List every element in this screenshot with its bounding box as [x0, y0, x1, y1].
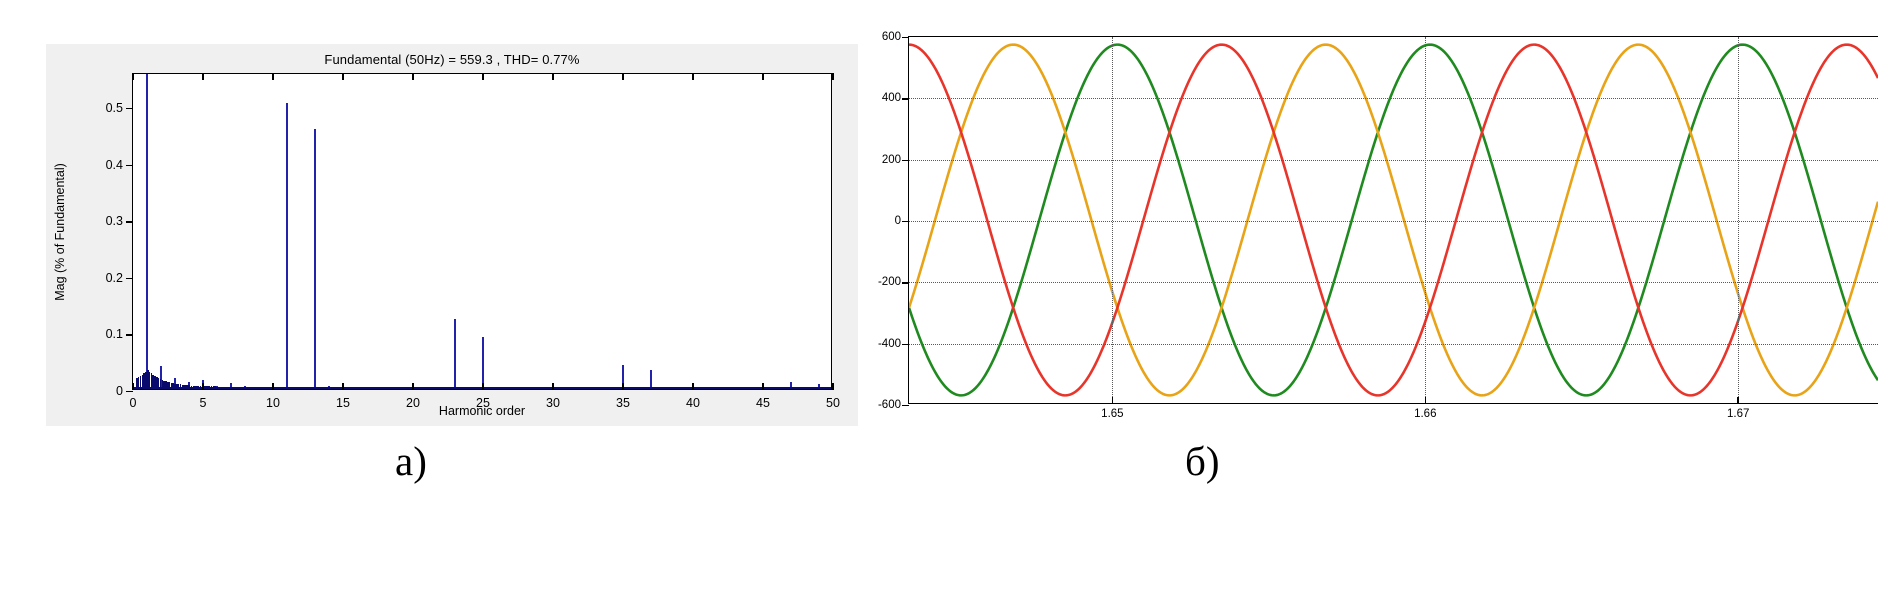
waveform-y-tick: [902, 405, 909, 406]
fft-y-tick-label: 0.2: [106, 271, 123, 285]
fft-x-tick-top: [762, 73, 763, 80]
fft-x-tick: [552, 383, 553, 390]
fft-y-axis-label: Mag (% of Fundamental): [53, 163, 67, 301]
waveform-plot-inner: [909, 37, 1878, 403]
fft-y-tick: [126, 221, 133, 222]
fft-y-tick: [126, 108, 133, 109]
waveform-x-tick: [1112, 397, 1113, 404]
waveform-y-gridline: [909, 98, 1878, 99]
fft-x-tick-top: [342, 73, 343, 80]
fft-y-tick: [126, 278, 133, 279]
fft-title: Fundamental (50Hz) = 559.3 , THD= 0.77%: [46, 52, 858, 67]
fft-y-tick-label: 0: [116, 384, 123, 398]
waveform-y-gridline: [909, 344, 1878, 345]
fft-x-tick: [202, 383, 203, 390]
waveform-y-tick: [902, 98, 909, 99]
fft-x-tick: [482, 383, 483, 390]
waveform-y-tick: [902, 344, 909, 345]
waveform-x-tick-label: 1.65: [1101, 408, 1123, 420]
waveform-x-gridline: [1738, 37, 1739, 403]
fft-x-tick: [272, 383, 273, 390]
waveform-x-tick-label: 1.67: [1727, 408, 1749, 420]
spectrum-noise: [256, 387, 258, 389]
fft-x-tick-top: [692, 73, 693, 80]
fft-x-tick: [132, 383, 133, 390]
waveform-window: -600-400-20002004006001.651.661.67: [858, 18, 1888, 426]
caption-a: а): [395, 437, 427, 485]
fft-y-tick: [126, 165, 133, 166]
waveform-x-tick: [1737, 397, 1738, 404]
waveform-y-tick-label: 0: [895, 215, 901, 227]
fft-y-tick-label: 0.1: [106, 327, 123, 341]
fft-x-tick: [762, 383, 763, 390]
fft-x-tick-top: [272, 73, 273, 80]
fft-x-tick-top: [202, 73, 203, 80]
fft-plot-area: 0.10.20.30.40.5005101520253035404550: [132, 73, 832, 390]
fft-plot-inner: [133, 74, 831, 389]
harmonic-spike: [454, 319, 456, 389]
waveform-y-tick-label: 600: [882, 31, 901, 43]
waveform-y-tick-label: 400: [882, 92, 901, 104]
fft-x-tick-top: [622, 73, 623, 80]
harmonic-spike: [482, 337, 484, 389]
waveform-y-gridline: [909, 160, 1878, 161]
waveform-y-tick: [902, 37, 909, 38]
waveform-y-tick: [902, 221, 909, 222]
fft-x-tick: [342, 383, 343, 390]
waveform-curves: [909, 37, 1878, 403]
fft-y-tick: [126, 391, 133, 392]
fft-y-tick: [126, 334, 133, 335]
fft-x-tick: [832, 383, 833, 390]
waveform-x-gridline: [1112, 37, 1113, 403]
fft-x-tick-top: [412, 73, 413, 80]
fft-y-tick-label: 0.4: [106, 158, 123, 172]
waveform-y-gridline: [909, 221, 1878, 222]
fft-y-tick-label: 0.5: [106, 101, 123, 115]
waveform-y-tick-label: -200: [878, 276, 901, 288]
harmonic-spike: [146, 74, 148, 389]
waveform-x-tick: [1425, 397, 1426, 404]
waveform-y-tick-label: -600: [878, 399, 901, 411]
waveform-x-tick-label: 1.66: [1414, 408, 1436, 420]
fft-y-tick-label: 0.3: [106, 214, 123, 228]
waveform-plot-area: -600-400-20002004006001.651.661.67: [908, 36, 1878, 404]
fft-x-tick-top: [132, 73, 133, 80]
figure-container: Fundamental (50Hz) = 559.3 , THD= 0.77% …: [0, 0, 1892, 605]
fft-x-tick: [692, 383, 693, 390]
fft-x-tick-top: [552, 73, 553, 80]
waveform-y-gridline: [909, 282, 1878, 283]
fft-analysis-window: Fundamental (50Hz) = 559.3 , THD= 0.77% …: [46, 44, 858, 426]
waveform-y-tick: [902, 282, 909, 283]
waveform-y-tick-label: 200: [882, 154, 901, 166]
fft-x-tick: [622, 383, 623, 390]
waveform-x-gridline: [1425, 37, 1426, 403]
fft-x-tick-top: [482, 73, 483, 80]
harmonic-spike: [286, 103, 288, 389]
waveform-y-tick-label: -400: [878, 338, 901, 350]
harmonic-spike: [314, 129, 316, 389]
fft-x-axis-label: Harmonic order: [132, 404, 832, 418]
fft-x-tick-top: [832, 73, 833, 80]
fft-x-tick: [412, 383, 413, 390]
caption-b: б): [1185, 437, 1220, 485]
waveform-y-tick: [902, 160, 909, 161]
